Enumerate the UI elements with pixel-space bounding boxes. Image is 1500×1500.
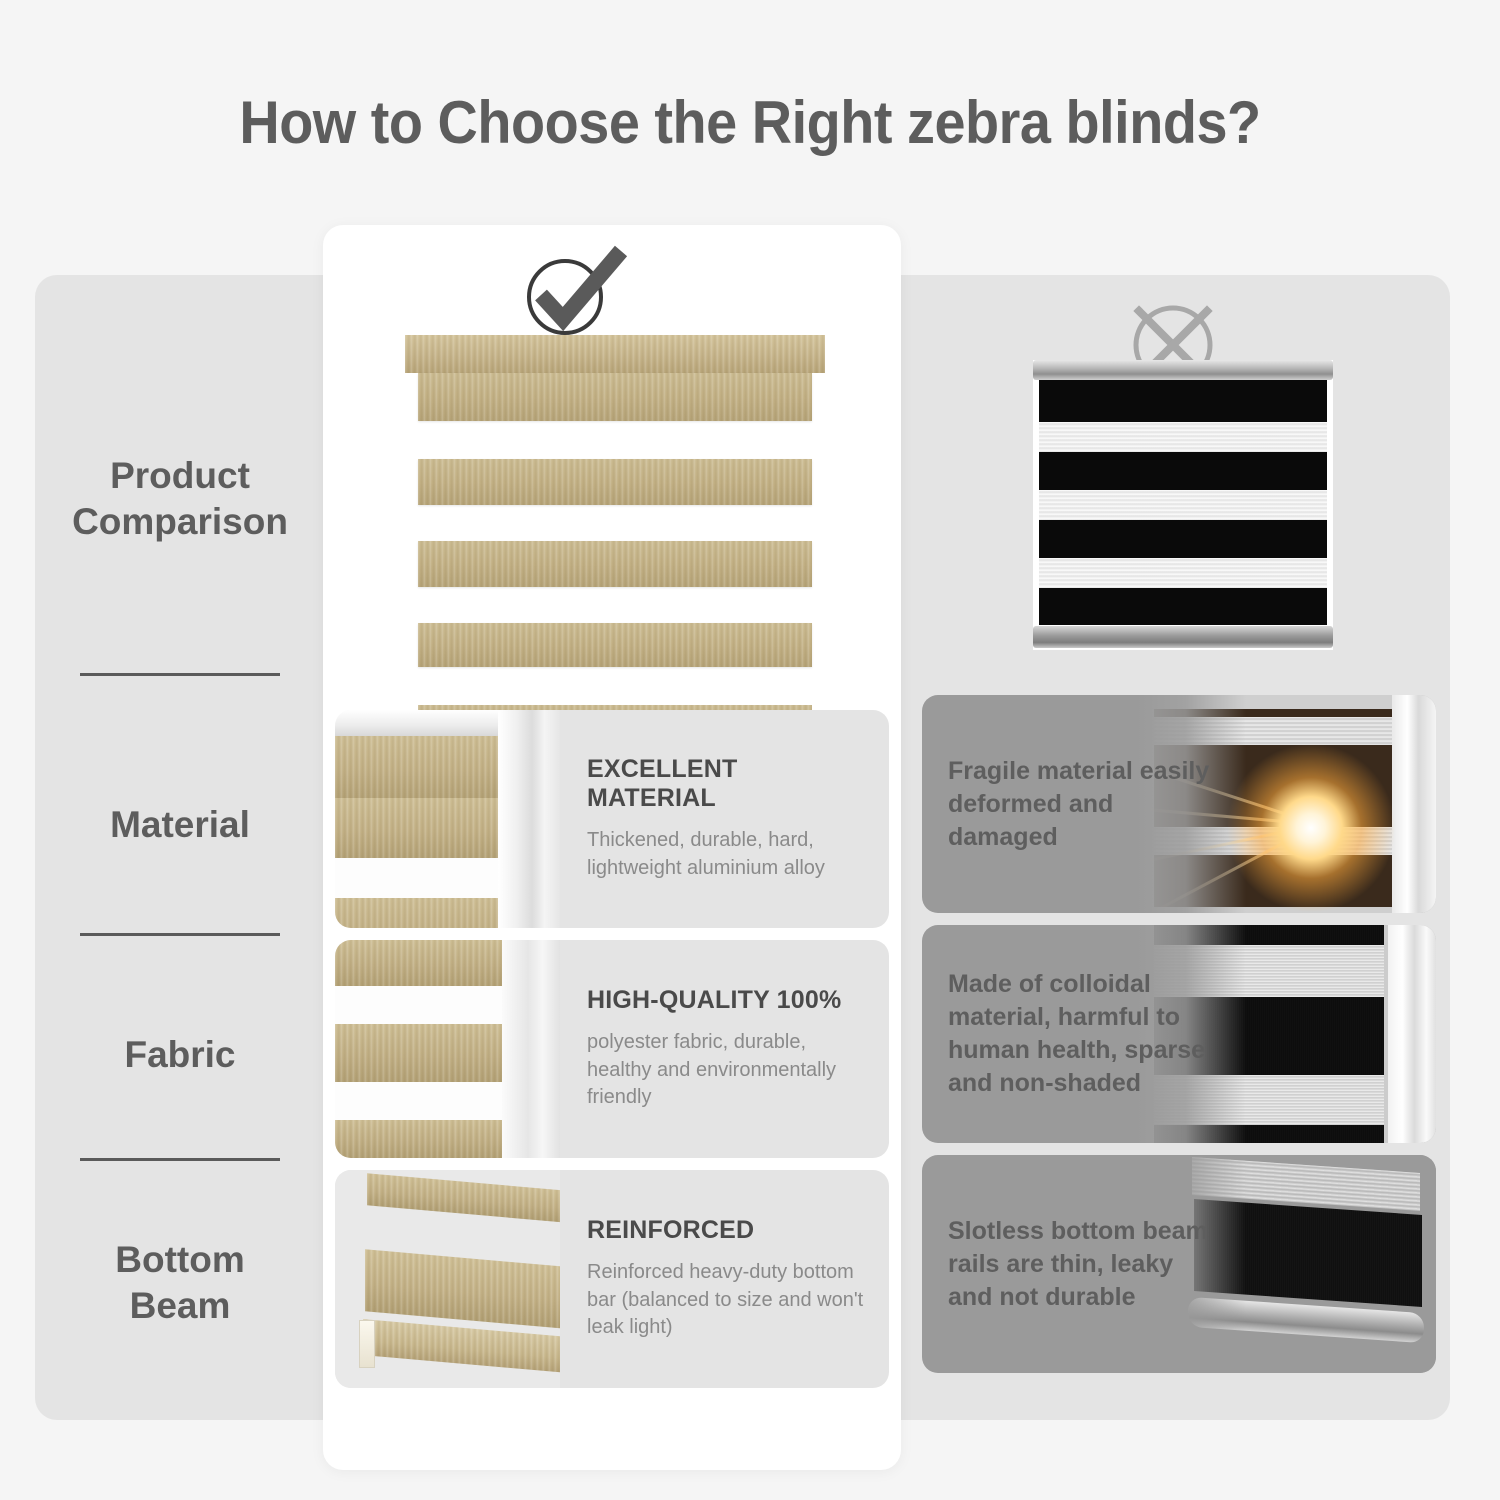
row-label-line1: Product <box>35 453 325 499</box>
bad-feature-bottom-beam: Slotless bottom beam rails are thin, lea… <box>922 1155 1436 1373</box>
good-feature-material: EXCELLENT MATERIAL Thickened, durable, h… <box>335 710 889 928</box>
good-feature-heading: HIGH-QUALITY 100% <box>587 986 873 1015</box>
row-divider <box>80 1158 280 1161</box>
bad-feature-text: Fragile material easily deformed and dam… <box>948 695 1213 913</box>
good-feature-body: Reinforced heavy-duty bottom bar (balanc… <box>587 1259 873 1342</box>
row-divider <box>80 933 280 936</box>
page-title: How to Choose the Right zebra blinds? <box>53 88 1448 157</box>
tan-zebra-blind <box>405 335 825 685</box>
row-label-fabric: Fabric <box>35 1032 325 1078</box>
row-label-material: Material <box>35 802 325 848</box>
good-feature-text-block: EXCELLENT MATERIAL Thickened, durable, h… <box>587 710 873 928</box>
good-feature-heading: EXCELLENT MATERIAL <box>587 755 873 813</box>
bad-feature-fabric: Made of colloidal material, harmful to h… <box>922 925 1436 1143</box>
tan-fabric-closeup-image <box>335 940 560 1158</box>
black-zebra-blind <box>1033 360 1333 650</box>
tan-blind-on-frame-image <box>335 710 560 928</box>
good-feature-text-block: REINFORCED Reinforced heavy-duty bottom … <box>587 1170 873 1388</box>
bottom-rail <box>1033 626 1333 648</box>
row-label-line2: Comparison <box>35 499 325 545</box>
comparison-board: Product Comparison Material Fabric Botto… <box>35 275 1450 1420</box>
blind-slat <box>418 373 812 421</box>
sheer-band <box>1039 558 1327 588</box>
good-feature-heading: REINFORCED <box>587 1216 873 1245</box>
bad-feature-text: Slotless bottom beam rails are thin, lea… <box>948 1155 1213 1373</box>
good-product-card: EXCELLENT MATERIAL Thickened, durable, h… <box>323 225 901 1470</box>
blind-slat <box>418 459 812 505</box>
row-label-line1: Fabric <box>35 1032 325 1078</box>
blind-body <box>1039 380 1327 625</box>
row-label-line1: Bottom <box>35 1237 325 1283</box>
bad-feature-material: Fragile material easily deformed and dam… <box>922 695 1436 913</box>
blind-slat <box>418 623 812 667</box>
good-feature-body: polyester fabric, durable, healthy and e… <box>587 1029 873 1112</box>
reinforced-bottom-bar-image <box>335 1170 560 1388</box>
row-label-product-comparison: Product Comparison <box>35 453 325 544</box>
bad-feature-text: Made of colloidal material, harmful to h… <box>948 925 1213 1143</box>
good-feature-bottom-beam: REINFORCED Reinforced heavy-duty bottom … <box>335 1170 889 1388</box>
good-feature-text-block: HIGH-QUALITY 100% polyester fabric, dura… <box>587 940 873 1158</box>
row-label-line2: Beam <box>35 1283 325 1329</box>
sheer-band <box>1039 422 1327 452</box>
row-label-line1: Material <box>35 802 325 848</box>
blind-slat <box>418 541 812 587</box>
sheer-band <box>1039 490 1327 520</box>
headrail <box>1033 360 1333 380</box>
bad-hero-product-image <box>908 360 1450 690</box>
good-feature-body: Thickened, durable, hard, lightweight al… <box>587 827 873 882</box>
good-hero-product-image <box>323 325 901 700</box>
bad-product-column: Fragile material easily deformed and dam… <box>908 265 1450 1430</box>
row-label-column: Product Comparison Material Fabric Botto… <box>35 275 325 1420</box>
infographic-page: How to Choose the Right zebra blinds? Pr… <box>0 0 1500 1500</box>
good-feature-fabric: HIGH-QUALITY 100% polyester fabric, dura… <box>335 940 889 1158</box>
headrail <box>405 335 825 373</box>
row-label-bottom-beam: Bottom Beam <box>35 1237 325 1328</box>
row-divider <box>80 673 280 676</box>
